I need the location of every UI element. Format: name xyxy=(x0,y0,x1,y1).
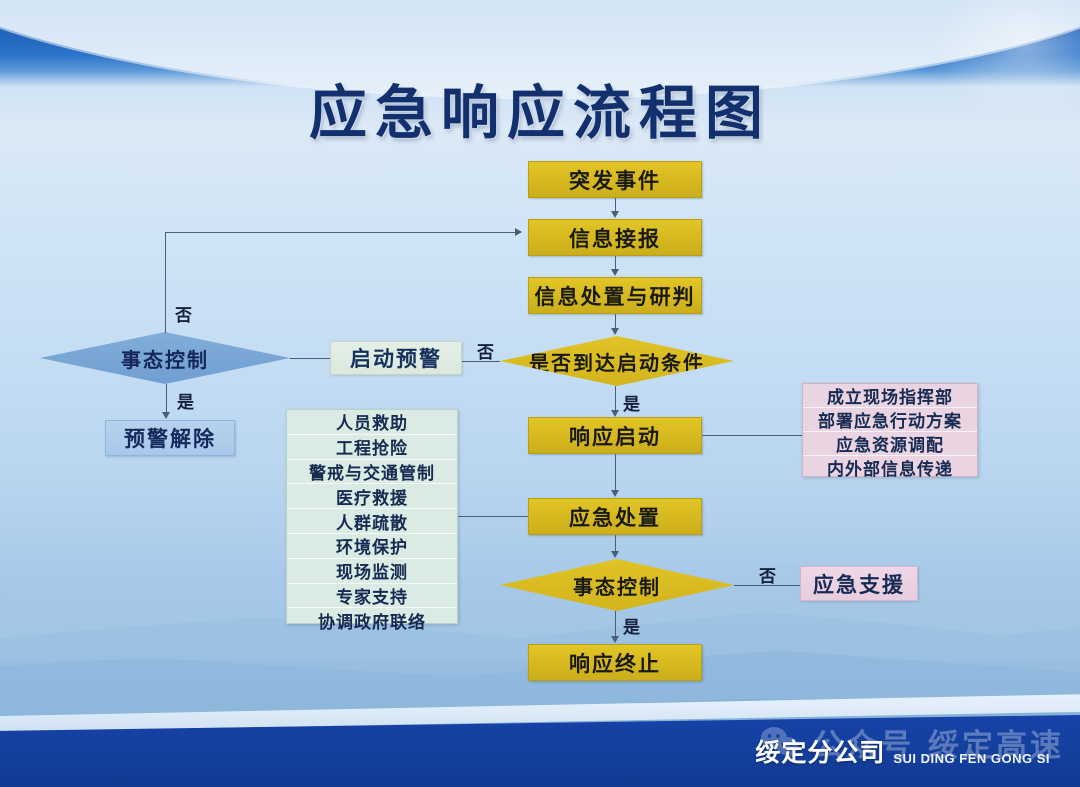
edge-start-to-command xyxy=(702,435,802,436)
node-warning-start[interactable]: 启动预警 xyxy=(330,341,462,375)
edge-label-no-control-bottom: 否 xyxy=(759,562,777,587)
task-panel-item: 专家支持 xyxy=(287,584,457,609)
node-emergency-handling[interactable]: 应急处置 xyxy=(528,498,702,535)
arrowhead-down xyxy=(611,269,619,276)
node-response-end[interactable]: 响应终止 xyxy=(528,644,702,681)
task-panel-item: 现场监测 xyxy=(287,559,457,584)
watermark-foreground: 绥定分公司 SUI DING FEN GONG SI xyxy=(755,733,1050,769)
node-response-start[interactable]: 响应启动 xyxy=(528,417,702,454)
arrowhead-down xyxy=(611,328,619,335)
arrowhead-down xyxy=(611,211,619,218)
arrowhead-down xyxy=(162,412,170,419)
edge-handling-to-control xyxy=(615,535,616,552)
arrowhead-right xyxy=(515,228,522,236)
edge-label-yes-control-bottom: 是 xyxy=(623,613,641,638)
task-panel-item: 工程抢险 xyxy=(287,435,457,460)
edge-warning-to-control xyxy=(290,358,330,359)
task-panel-item: 人群疏散 xyxy=(287,509,457,534)
edge-start-to-handling xyxy=(615,454,616,491)
edge-label-no-start-condition: 否 xyxy=(477,338,495,363)
command-panel-item: 成立现场指挥部 xyxy=(803,384,977,408)
task-panel-item: 环境保护 xyxy=(287,534,457,559)
task-panel: 人员救助 工程抢险 警戒与交通管制 医疗救援 人群疏散 环境保护 现场监测 专家… xyxy=(286,409,458,624)
task-panel-item: 医疗救援 xyxy=(287,484,457,509)
arrowhead-down xyxy=(611,551,619,558)
edge-receive-to-process xyxy=(615,256,616,270)
command-panel-item: 部署应急行动方案 xyxy=(803,408,977,432)
edge-control-no-horizontal xyxy=(165,232,515,233)
task-panel-item: 协调政府联络 xyxy=(287,608,457,632)
node-incident[interactable]: 突发事件 xyxy=(528,161,702,198)
edge-control-yes xyxy=(615,611,616,637)
node-info-receive[interactable]: 信息接报 xyxy=(528,219,702,256)
arrowhead-down xyxy=(611,636,619,643)
command-panel: 成立现场指挥部 部署应急行动方案 应急资源调配 内外部信息传递 xyxy=(802,383,978,477)
watermark-company-pinyin: SUI DING FEN GONG SI xyxy=(893,751,1050,769)
edge-decision-yes xyxy=(615,386,616,410)
edge-process-to-decision xyxy=(615,314,616,329)
edge-tasks-to-handling xyxy=(458,516,528,517)
command-panel-item: 应急资源调配 xyxy=(803,432,977,456)
edge-control-no-vertical xyxy=(165,232,166,333)
arrowhead-down xyxy=(611,490,619,497)
node-warning-release[interactable]: 预警解除 xyxy=(105,420,235,456)
edge-label-no-control-left: 否 xyxy=(175,301,193,326)
arrowhead-down xyxy=(611,410,619,417)
node-info-process[interactable]: 信息处置与研判 xyxy=(528,277,702,314)
task-panel-item: 警戒与交通管制 xyxy=(287,460,457,485)
edge-label-yes-start-condition: 是 xyxy=(623,390,641,415)
node-emergency-support[interactable]: 应急支援 xyxy=(800,566,918,601)
watermark-company-name: 绥定分公司 xyxy=(755,733,885,769)
poster-canvas: 应急响应流程图 突发事件 信息接报 信息处置与研判 是否到达启动条件 响应启动 … xyxy=(0,0,1080,787)
task-panel-item: 人员救助 xyxy=(287,410,457,435)
page-title: 应急响应流程图 xyxy=(0,66,1080,150)
edge-control-yes-release xyxy=(166,384,167,413)
command-panel-item: 内外部信息传递 xyxy=(803,456,977,479)
edge-incident-to-receive xyxy=(615,198,616,212)
edge-label-yes-control-left: 是 xyxy=(177,388,195,413)
